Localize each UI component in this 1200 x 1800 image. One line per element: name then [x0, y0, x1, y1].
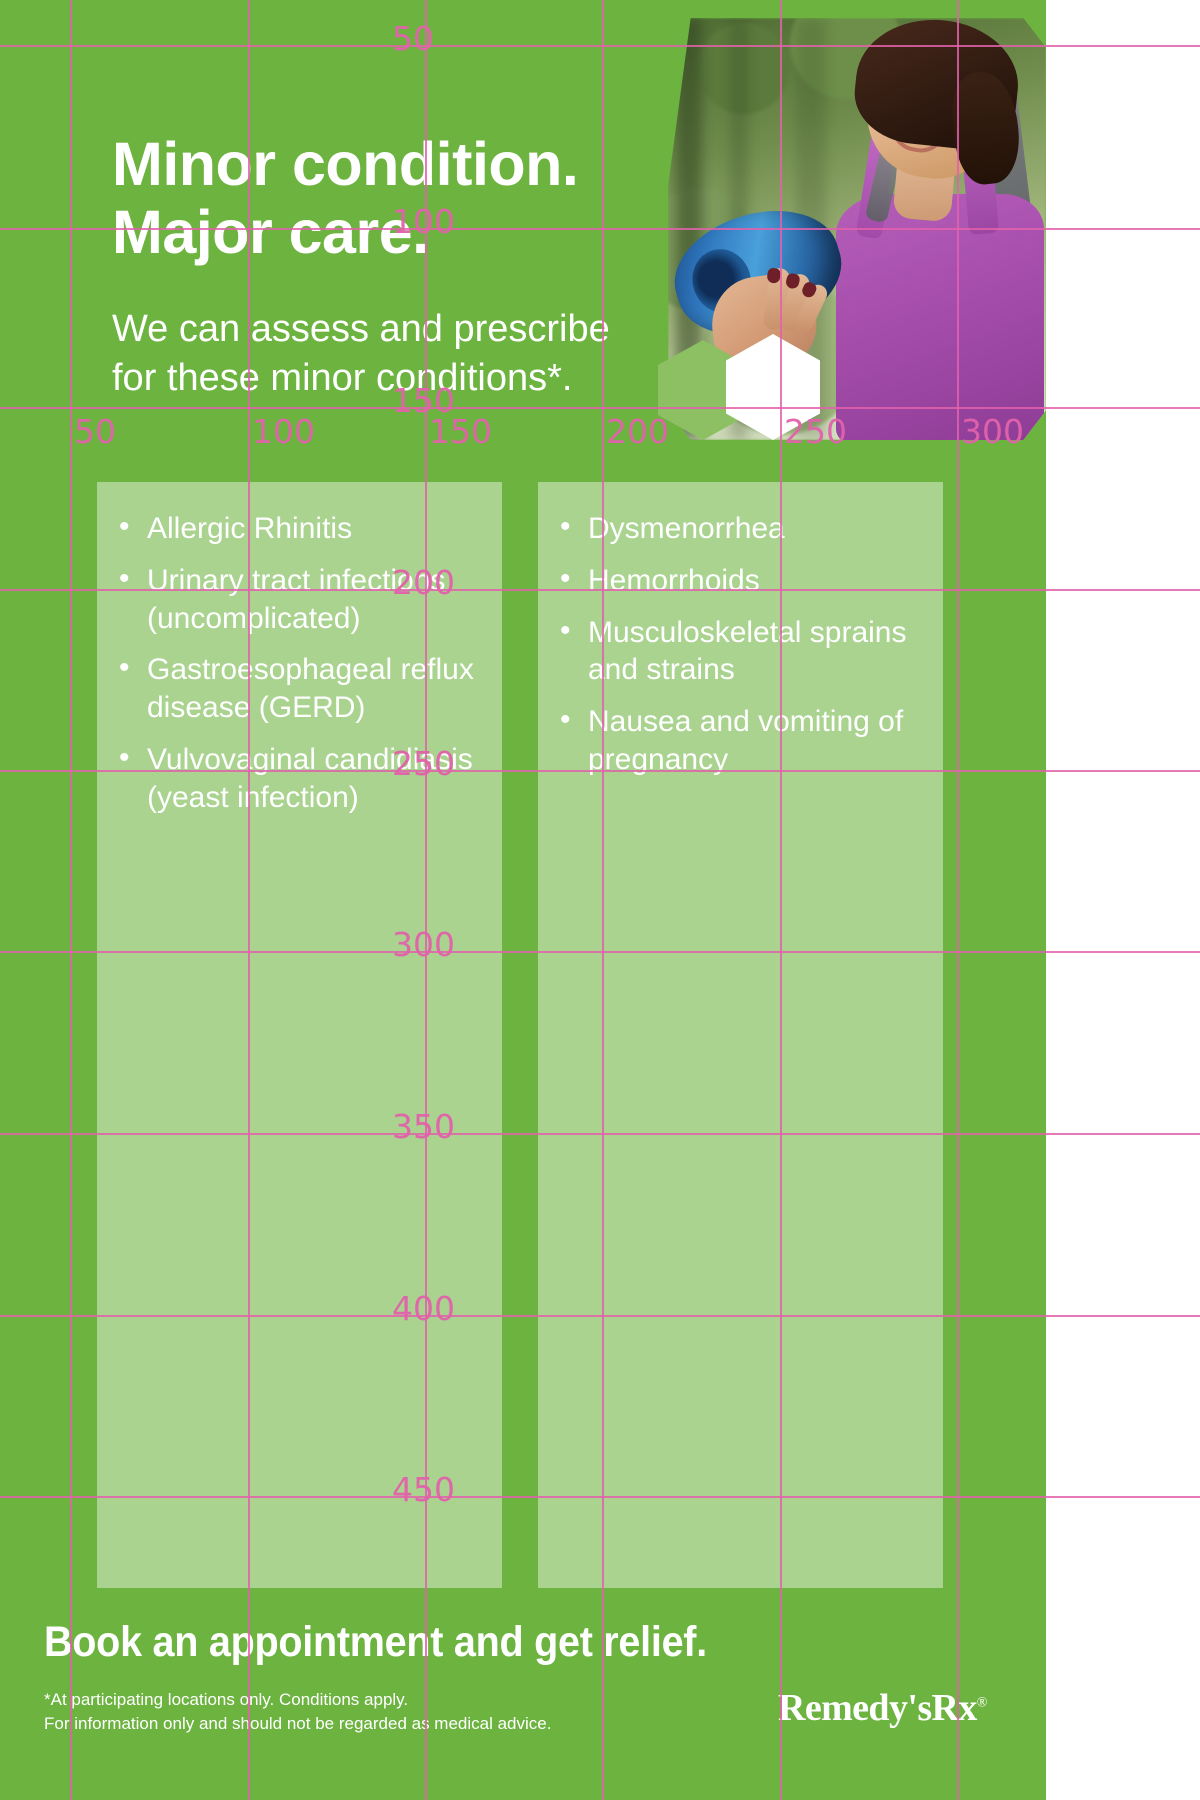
list-item: Nausea and vomiting of pregnancy	[556, 703, 933, 779]
headline-line-2: Major care.	[112, 198, 692, 266]
disclaimer-line-1: *At participating locations only. Condit…	[44, 1688, 664, 1712]
list-item: Urinary tract infections (uncomplicated)	[115, 562, 492, 638]
page-title: Minor condition. Major care.	[112, 130, 692, 267]
subheadline-line-2: for these minor conditions*.	[112, 354, 672, 403]
conditions-list-left: Allergic RhinitisUrinary tract infection…	[115, 510, 492, 831]
conditions-list-right: DysmenorrheaHemorrhoidsMusculoskeletal s…	[556, 510, 933, 793]
list-item: Vulvovaginal candidiasis (yeast infectio…	[115, 741, 492, 817]
subheadline-line-1: We can assess and prescribe	[112, 305, 672, 354]
disclaimer-line-2: For information only and should not be r…	[44, 1712, 664, 1736]
brand-logo-text: Remedy'sRx	[778, 1687, 977, 1729]
brand-logo: Remedy'sRx®	[778, 1686, 987, 1730]
list-item: Gastroesophageal reflux disease (GERD)	[115, 651, 492, 727]
conditions-panel-left: Allergic RhinitisUrinary tract infection…	[97, 482, 502, 1588]
canvas-right-filler	[1046, 0, 1200, 1800]
list-item: Hemorrhoids	[556, 562, 933, 600]
list-item: Allergic Rhinitis	[115, 510, 492, 548]
registered-trademark-icon: ®	[977, 1695, 987, 1710]
conditions-panel-right: DysmenorrheaHemorrhoidsMusculoskeletal s…	[538, 482, 943, 1588]
cta-headline: Book an appointment and get relief.	[44, 1618, 707, 1667]
poster-canvas: Minor condition. Major care. We can asse…	[0, 0, 1046, 1800]
headline-line-1: Minor condition.	[112, 130, 692, 198]
list-item: Musculoskeletal sprains and strains	[556, 614, 933, 690]
subheadline: We can assess and prescribe for these mi…	[112, 305, 672, 402]
disclaimer: *At participating locations only. Condit…	[44, 1688, 664, 1737]
list-item: Dysmenorrhea	[556, 510, 933, 548]
